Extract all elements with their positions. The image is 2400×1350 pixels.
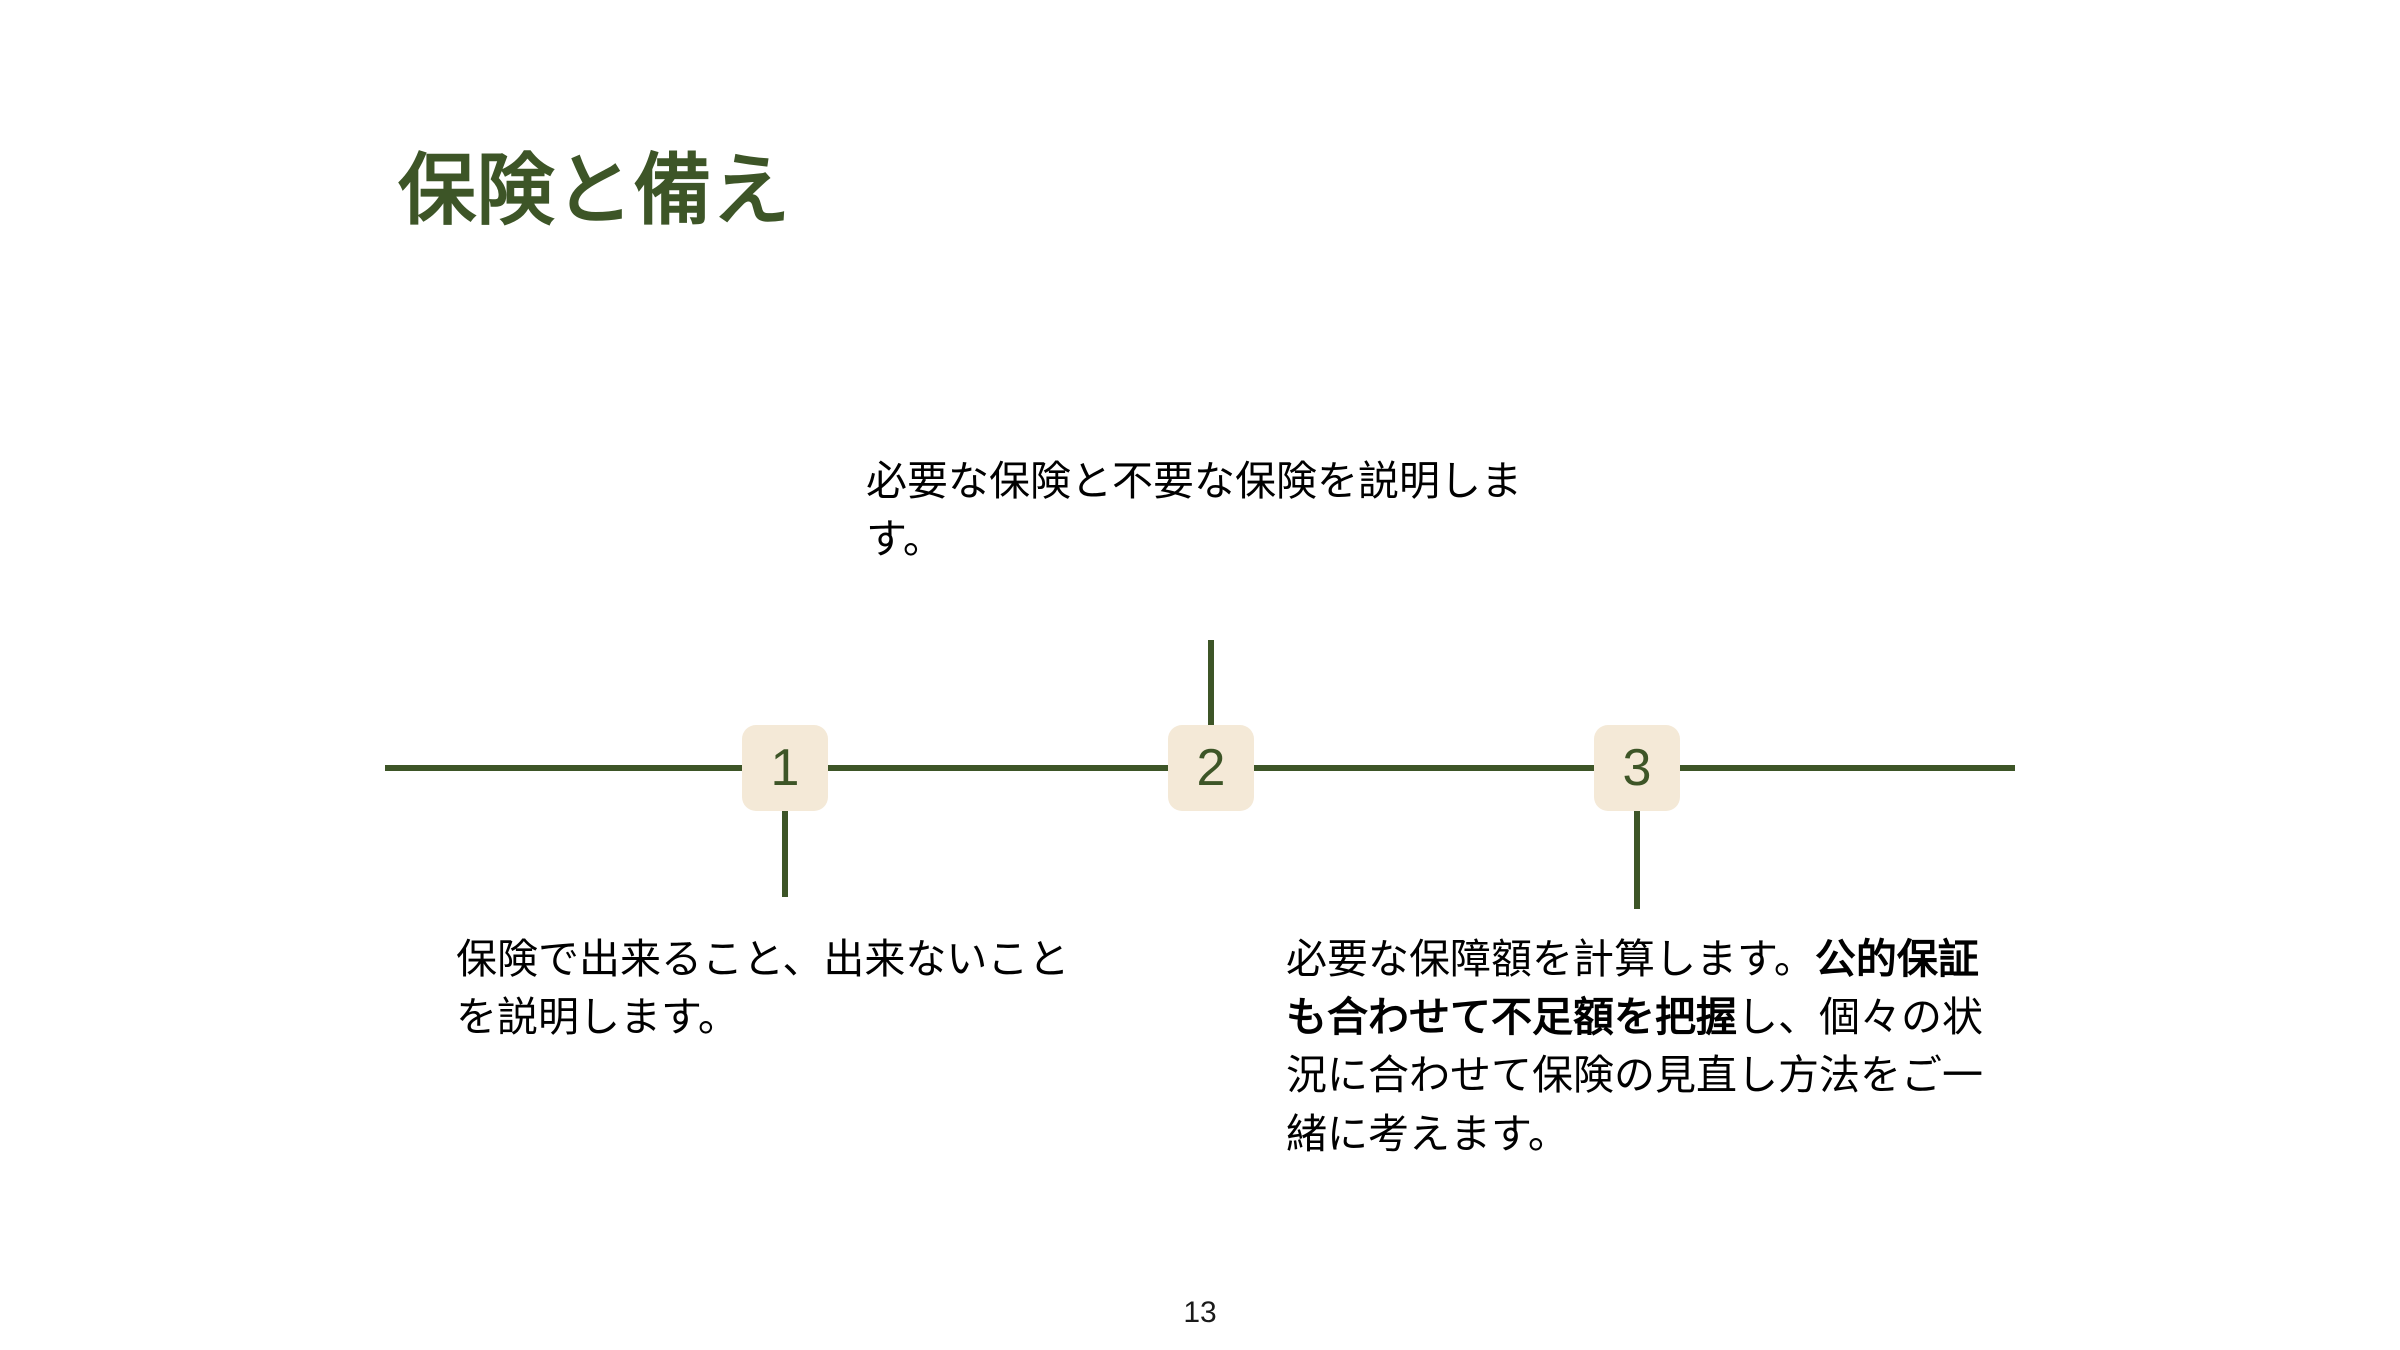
timeline-step-2-marker[interactable]: 2 xyxy=(1168,725,1254,811)
timeline-step-2-description: 必要な保険と不要な保険を説明します。 xyxy=(866,452,1526,568)
page-title: 保険と備え xyxy=(398,148,791,234)
timeline-step-1-marker[interactable]: 1 xyxy=(742,725,828,811)
timeline-step-3-marker[interactable]: 3 xyxy=(1594,725,1680,811)
timeline-step-3-stem xyxy=(1634,811,1640,909)
timeline-step-2-stem xyxy=(1208,640,1214,726)
slide-canvas: 保険と備え 必要な保険と不要な保険を説明します。 1 2 3 保険で出来ること、… xyxy=(0,0,2400,1350)
timeline-step-1-stem xyxy=(782,811,788,897)
timeline-step-1-description: 保険で出来ること、出来ないことを説明します。 xyxy=(456,930,1096,1046)
timeline-step-3-description: 必要な保障額を計算します。公的保証も合わせて不足額を把握し、個々の状況に合わせて… xyxy=(1286,930,1986,1163)
page-number: 13 xyxy=(0,1296,2400,1330)
